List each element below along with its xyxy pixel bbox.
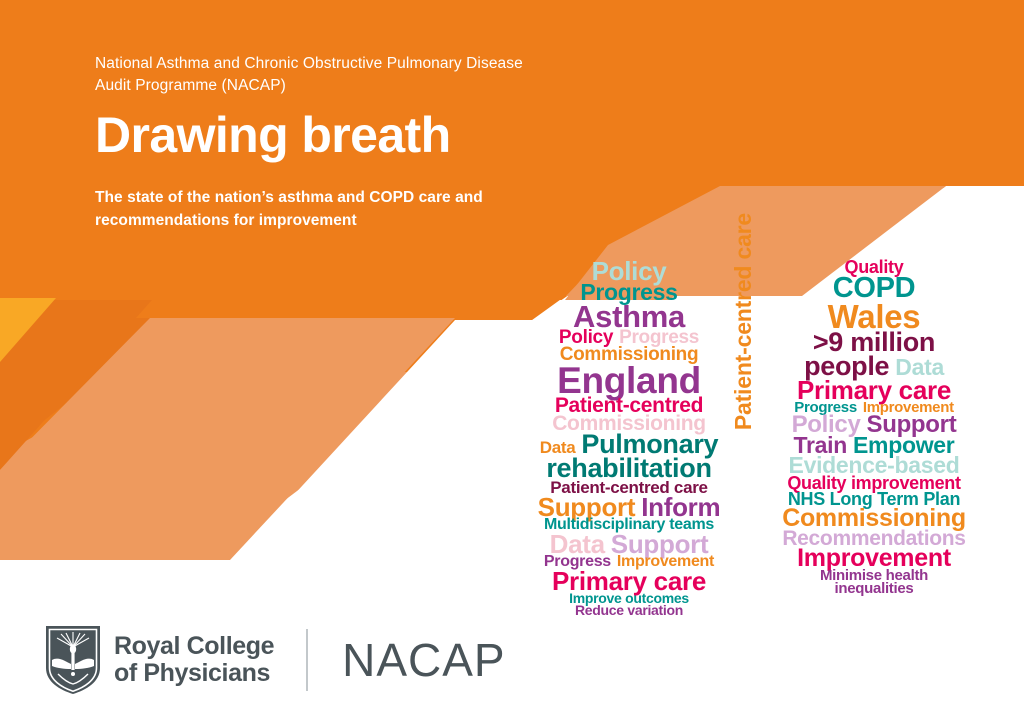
word-cloud-left-column: PolicyProgressAsthmaPolicyProgressCommis… xyxy=(520,258,738,615)
word-cloud-line: PolicySupport xyxy=(758,413,990,434)
footer-logos: Royal College of Physicians NACAP xyxy=(44,620,506,700)
word-cloud-line: >9 million xyxy=(758,329,990,353)
programme-kicker: National Asthma and Chronic Obstructive … xyxy=(95,53,555,97)
page-title: Drawing breath xyxy=(95,105,655,165)
word-cloud-line: Evidence-based xyxy=(758,454,990,474)
page-subtitle: The state of the nation’s asthma and COP… xyxy=(95,186,565,232)
word-cloud-line: Asthma xyxy=(520,301,738,328)
royal-college-shield-icon xyxy=(44,624,102,696)
word-cloud-line: Reduce variation xyxy=(520,603,738,615)
word-cloud-line: Commissioning xyxy=(758,506,990,528)
word-cloud-line: PolicyProgress xyxy=(520,328,738,345)
word-cloud-line: England xyxy=(520,362,738,395)
word-cloud-right-column: QualityCOPDWales>9 millionpeopleDataPrim… xyxy=(758,258,990,594)
report-cover-page: National Asthma and Chronic Obstructive … xyxy=(0,0,1024,724)
word-cloud-line: SupportInform xyxy=(520,494,738,517)
word-cloud-line: peopleData xyxy=(758,353,990,377)
word-cloud-line: Wales xyxy=(758,300,990,329)
royal-college-wordmark: Royal College of Physicians xyxy=(114,633,274,687)
word-cloud-line: Quality improvement xyxy=(758,474,990,490)
rcp-line-1: Royal College xyxy=(114,633,274,660)
rcp-line-2: of Physicians xyxy=(114,660,274,687)
word-cloud-line: Progress xyxy=(520,281,738,301)
word-cloud-line: Patient-centred xyxy=(520,395,738,413)
word-cloud-line: Primary care xyxy=(520,568,738,591)
word-cloud-term: Reduce variation xyxy=(575,603,683,617)
word-cloud-line: COPD xyxy=(758,274,990,300)
word-cloud-line: DataPulmonary xyxy=(520,431,738,455)
word-cloud-line: rehabilitation xyxy=(520,455,738,479)
word-cloud-line: DataSupport xyxy=(520,531,738,554)
vertical-word-patient-centred-care: Patient-centred care xyxy=(726,160,760,430)
word-cloud-line: Primary care xyxy=(758,377,990,400)
word-cloud-term: inequalities xyxy=(835,581,914,596)
word-cloud-line: Policy xyxy=(520,258,738,281)
vertical-word-label: Patient-centred care xyxy=(730,213,757,430)
nacap-wordmark: NACAP xyxy=(342,636,505,684)
logo-divider xyxy=(306,629,308,691)
word-cloud-line: inequalities xyxy=(758,581,990,594)
